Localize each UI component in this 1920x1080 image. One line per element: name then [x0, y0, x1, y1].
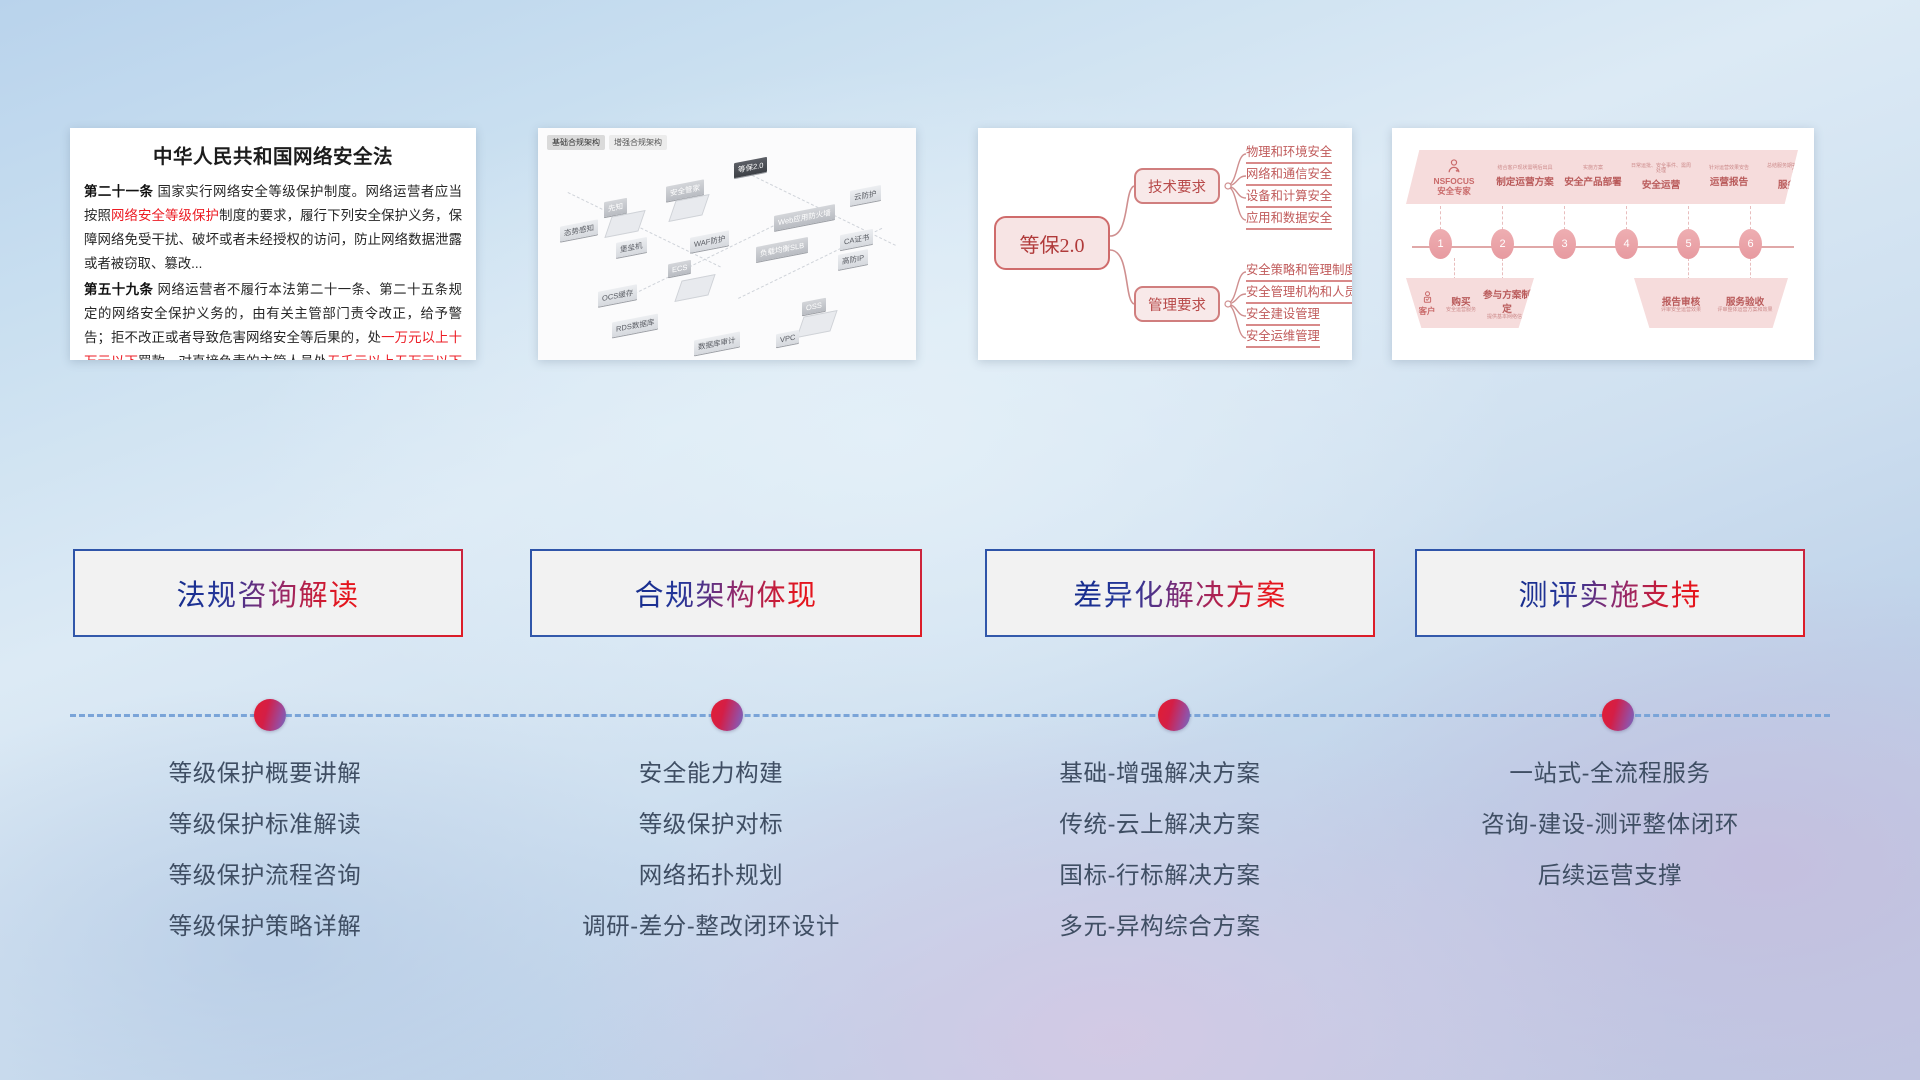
connector-dash: [1440, 206, 1441, 230]
provider-step-1-main: 制定运营方案: [1494, 174, 1556, 188]
list-item: 后续运营支撑: [1400, 850, 1820, 901]
provider-identity: NSFOCUS 安全专家: [1422, 158, 1486, 196]
mindmap-leaf-device-computing[interactable]: 设备和计算安全: [1246, 186, 1332, 208]
iso-node-ocs-cache[interactable]: OCS缓存: [598, 284, 637, 307]
list-item: 传统-云上解决方案: [950, 799, 1370, 850]
law-article-21-seg-1: 网络安全等级保护: [111, 208, 219, 223]
step-number-1[interactable]: 1: [1429, 229, 1452, 259]
customer-band-left: 客户 购买 安全运营服务 参与方案制定 提供基本网络信息: [1406, 278, 1534, 328]
card-cybersecurity-law[interactable]: 中华人民共和国网络安全法 第二十一条 国家实行网络安全等级保护制度。网络运营者应…: [70, 128, 476, 360]
connector-dash: [1626, 206, 1627, 230]
step-number-5[interactable]: 5: [1677, 229, 1700, 259]
customer-step-report-sub: 评审安全运营效果: [1652, 308, 1710, 314]
service-flow-diagram: NSFOCUS 安全专家 结合客户现状需明后出具 制定运营方案 实施方案 安全产…: [1392, 128, 1814, 360]
iso-node-ecs[interactable]: ECS: [668, 260, 691, 278]
provider-step-4-main: 运营报告: [1698, 174, 1760, 188]
iso-node-anti-ddos-ip[interactable]: 高防IP: [838, 249, 868, 270]
iso-node-ca-certificate[interactable]: CA证书: [840, 229, 873, 250]
architecture-tabs[interactable]: 基础合规架构 增强合规架构: [547, 135, 667, 150]
connector-dash: [1502, 258, 1503, 280]
list-item: 调研-差分-整改闭环设计: [516, 901, 906, 952]
provider-step-3[interactable]: 日常运批、安全事件、需周处理 安全运营: [1630, 164, 1692, 191]
image-cards-row: 中华人民共和国网络安全法 第二十一条 国家实行网络安全等级保护制度。网络运营者应…: [0, 128, 1920, 368]
customer-role: 客户: [1419, 306, 1436, 316]
list-item: 一站式-全流程服务: [1400, 748, 1820, 799]
expert-person-icon: [1445, 158, 1463, 176]
law-article-59: 第五十九条 网络运营者不履行本法第二十一条、第二十五条规定的网络安全保护义务的，…: [84, 278, 462, 360]
architecture-diagram: 基础合规架构 增强合规架构 等保2.0 安全管家 先知 态势感知 堡垒机 WAF…: [538, 128, 916, 360]
list-item: 等级保护对标: [516, 799, 906, 850]
provider-step-2[interactable]: 实施方案 安全产品部署: [1562, 166, 1624, 188]
headline-label-2: 合规架构体现: [634, 572, 817, 614]
provider-step-1-sub: 结合客户现状需明后出具: [1494, 166, 1556, 172]
customer-step-plan-participation[interactable]: 参与方案制定 提供基本网络信息: [1480, 285, 1534, 321]
connector-dash: [1750, 258, 1751, 280]
mindmap-leaf-application-data[interactable]: 应用和数据安全: [1246, 208, 1332, 230]
mindmap-leaf-security-policy[interactable]: 安全策略和管理制度: [1246, 260, 1352, 282]
customer-step-plan-main: 参与方案制定: [1480, 287, 1534, 315]
customer-step-acceptance-sub: 评审整体运营方案和效果: [1716, 308, 1774, 314]
list-item: 基础-增强解决方案: [950, 748, 1370, 799]
law-article-21: 第二十一条 国家实行网络安全等级保护制度。网络运营者应当按照网络安全等级保护制度…: [84, 180, 462, 275]
step-number-2[interactable]: 2: [1491, 229, 1514, 259]
card-dengbao-mindmap[interactable]: 等保2.0 技术要求 管理要求 物理和环境安全 网络和通信安全 设备和计算安全 …: [978, 128, 1352, 360]
mindmap-leaf-physical-environment[interactable]: 物理和环境安全: [1246, 142, 1332, 164]
customer-step-purchase[interactable]: 购买 安全运营服务: [1444, 292, 1478, 314]
step-number-4[interactable]: 4: [1615, 229, 1638, 259]
iso-node-load-balancer-slb[interactable]: 负载均衡SLB: [756, 237, 808, 262]
iso-plate: [674, 274, 715, 302]
law-title: 中华人民共和国网络安全法: [84, 140, 462, 169]
mindmap-diagram: 等保2.0 技术要求 管理要求 物理和环境安全 网络和通信安全 设备和计算安全 …: [978, 128, 1352, 360]
provider-step-2-main: 安全产品部署: [1562, 174, 1624, 188]
provider-step-3-main: 安全运营: [1630, 177, 1692, 191]
mindmap-leaf-security-org-personnel[interactable]: 安全管理机构和人员: [1246, 282, 1352, 304]
provider-step-3-sub: 日常运批、安全事件、需周处理: [1630, 164, 1692, 175]
headline-label-1: 法规咨询解读: [176, 572, 359, 614]
timeline-dashed-line: [70, 714, 1830, 717]
provider-step-1[interactable]: 结合客户现状需明后出具 制定运营方案: [1494, 166, 1556, 188]
iso-node-situational-awareness[interactable]: 态势感知: [560, 219, 598, 241]
list-item: 网络拓扑规划: [516, 850, 906, 901]
law-text-block: 中华人民共和国网络安全法 第二十一条 国家实行网络安全等级保护制度。网络运营者应…: [70, 128, 476, 360]
customer-band-right: 报告审核 评审安全运营效果 服务验收 评审整体运营方案和效果: [1634, 278, 1788, 328]
customer-step-service-acceptance[interactable]: 服务验收 评审整体运营方案和效果: [1716, 292, 1774, 314]
iso-node-cloud-protection[interactable]: 云防护: [850, 185, 881, 206]
list-item: 国标-行标解决方案: [950, 850, 1370, 901]
headline-box-regulation-consulting[interactable]: 法规咨询解读: [73, 549, 463, 637]
list-item: 等级保护标准解读: [70, 799, 460, 850]
tab-enhanced-architecture[interactable]: 增强合规架构: [609, 135, 667, 150]
mindmap-branch-technical[interactable]: 技术要求: [1134, 168, 1220, 204]
tab-basic-architecture[interactable]: 基础合规架构: [547, 135, 605, 150]
provider-step-5[interactable]: 总结服务期等落之整体运营效果 服务报告: [1766, 164, 1814, 191]
iso-node-vpc[interactable]: VPC: [776, 330, 799, 348]
card-service-flow[interactable]: NSFOCUS 安全专家 结合客户现状需明后出具 制定运营方案 实施方案 安全产…: [1392, 128, 1814, 360]
headline-box-differentiated-solution[interactable]: 差异化解决方案: [985, 549, 1375, 637]
law-article-21-label: 第二十一条: [84, 184, 153, 199]
mindmap-leaf-security-construction[interactable]: 安全建设管理: [1246, 304, 1320, 326]
provider-step-4[interactable]: 针对运营效果安告 运营报告: [1698, 166, 1760, 188]
headline-inner: 差异化解决方案: [987, 551, 1373, 635]
iso-node-web-application-firewall[interactable]: Web应用防火墙: [774, 204, 835, 231]
iso-node-bastion-host[interactable]: 堡垒机: [616, 237, 647, 258]
detail-list-differentiated-solution: 基础-增强解决方案 传统-云上解决方案 国标-行标解决方案 多元-异构综合方案: [950, 748, 1370, 952]
iso-node-rds-database[interactable]: RDS数据库: [612, 313, 658, 337]
iso-node-database-audit[interactable]: 数据库审计: [694, 332, 740, 356]
customer-step-report-review[interactable]: 报告审核 评审安全运营效果: [1652, 292, 1710, 314]
list-item: 等级保护策略详解: [70, 901, 460, 952]
mindmap-leaf-security-operations[interactable]: 安全运维管理: [1246, 326, 1320, 348]
provider-step-2-sub: 实施方案: [1562, 166, 1624, 172]
connector-dash: [1502, 206, 1503, 230]
law-article-59-seg-2: 罚款，对直接负责的主管人员处: [138, 354, 327, 360]
provider-step-5-main: 服务报告: [1766, 177, 1814, 191]
law-article-59-label: 第五十九条: [84, 282, 153, 297]
headline-inner: 测评实施支持: [1417, 551, 1803, 635]
provider-band: NSFOCUS 安全专家 结合客户现状需明后出具 制定运营方案 实施方案 安全产…: [1406, 150, 1798, 204]
detail-list-assessment-support: 一站式-全流程服务 咨询-建设-测评整体闭环 后续运营支撑: [1400, 748, 1820, 901]
connector-dash: [1688, 258, 1689, 280]
connector-dash: [1688, 206, 1689, 230]
mindmap-branch-management[interactable]: 管理要求: [1134, 286, 1220, 322]
customer-person-icon: [1420, 290, 1435, 305]
list-item: 多元-异构综合方案: [950, 901, 1370, 952]
list-item: 安全能力构建: [516, 748, 906, 799]
connector-dash: [1750, 206, 1751, 230]
connector-dash: [1454, 258, 1455, 280]
headline-label-4: 测评实施支持: [1518, 572, 1701, 614]
connector-dash: [1564, 206, 1565, 230]
timeline-connector: [0, 695, 1920, 735]
card-compliance-architecture[interactable]: 基础合规架构 增强合规架构 等保2.0 安全管家 先知 态势感知 堡垒机 WAF…: [538, 128, 916, 360]
provider-step-4-sub: 针对运营效果安告: [1698, 166, 1760, 172]
list-item: 咨询-建设-测评整体闭环: [1400, 799, 1820, 850]
customer-identity: 客户: [1412, 290, 1442, 317]
headline-label-3: 差异化解决方案: [1073, 572, 1287, 614]
list-item: 等级保护概要讲解: [70, 748, 460, 799]
list-item: 等级保护流程咨询: [70, 850, 460, 901]
law-article-59-seg-3: 五千元以上五万元以下: [327, 354, 462, 360]
timeline-dot-1[interactable]: [254, 699, 286, 731]
customer-step-plan-sub: 提供基本网络信息: [1480, 315, 1534, 321]
timeline-dot-3[interactable]: [1158, 699, 1190, 731]
headline-inner: 合规架构体现: [532, 551, 920, 635]
customer-step-purchase-sub: 安全运营服务: [1444, 308, 1478, 314]
step-number-3[interactable]: 3: [1553, 229, 1576, 259]
detail-lists-row: 等级保护概要讲解 等级保护标准解读 等级保护流程咨询 等级保护策略详解 安全能力…: [0, 748, 1920, 968]
headline-inner: 法规咨询解读: [75, 551, 461, 635]
headline-box-compliance-architecture[interactable]: 合规架构体现: [530, 549, 922, 637]
detail-list-compliance-architecture: 安全能力构建 等级保护对标 网络拓扑规划 调研-差分-整改闭环设计: [516, 748, 906, 952]
timeline-dot-4[interactable]: [1602, 699, 1634, 731]
provider-role: 安全专家: [1422, 187, 1486, 197]
mindmap-root-node[interactable]: 等保2.0: [994, 216, 1110, 270]
timeline-axis: [1412, 246, 1794, 248]
mindmap-leaf-network-communication[interactable]: 网络和通信安全: [1246, 164, 1332, 186]
detail-list-regulation-consulting: 等级保护概要讲解 等级保护标准解读 等级保护流程咨询 等级保护策略详解: [70, 748, 460, 952]
headline-boxes-row: 法规咨询解读 合规架构体现 差异化解决方案 测评实施支持: [0, 549, 1920, 637]
step-number-6[interactable]: 6: [1739, 229, 1762, 259]
provider-step-5-sub: 总结服务期等落之整体运营效果: [1766, 164, 1814, 175]
timeline-dot-2[interactable]: [711, 699, 743, 731]
headline-box-assessment-support[interactable]: 测评实施支持: [1415, 549, 1805, 637]
